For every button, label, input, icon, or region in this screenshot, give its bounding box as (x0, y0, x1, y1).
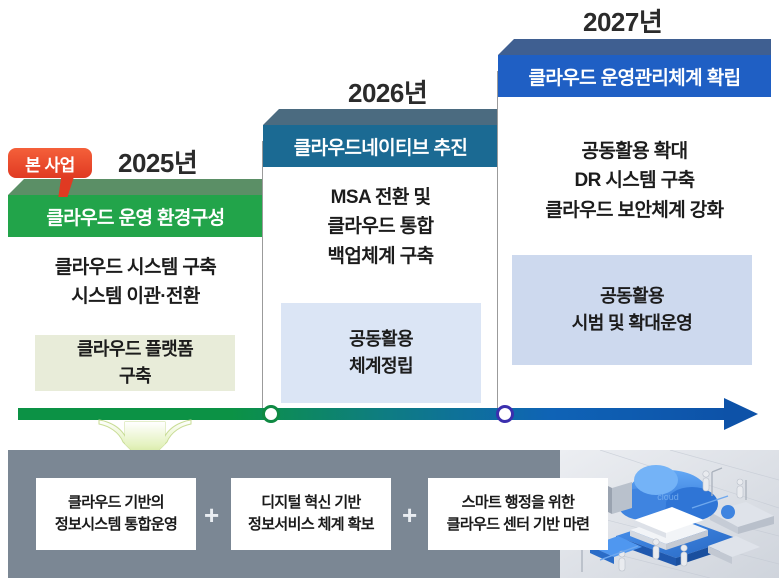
column-subbox-line: 공동활용 (572, 283, 693, 310)
column-header-2027: 클라우드 운영관리체계 확립 (498, 55, 771, 97)
column-subbox-2027: 공동활용 시범 및 확대운영 (512, 255, 752, 365)
column-header-2026: 클라우드네이티브 추진 (263, 125, 498, 167)
outcome-line: 스마트 행정을 위한 (447, 492, 590, 514)
column-subbox-2025: 클라우드 플랫폼 구축 (35, 335, 235, 391)
column-subbox-line: 구축 (77, 363, 193, 390)
outcome-box-1: 클라우드 기반의 정보시스템 통합운영 (36, 478, 196, 550)
outcome-line: 정보서비스 체계 확보 (248, 514, 374, 536)
column-divider-right (497, 71, 498, 411)
column-subbox-2026: 공동활용 체계정립 (281, 303, 481, 403)
column-3d-top-2027 (498, 39, 771, 55)
column-header-2025: 클라우드 운영 환경구성 (8, 195, 263, 237)
outcome-line: 클라우드 센터 기반 마련 (447, 514, 590, 536)
outcome-separator-1: + (204, 502, 219, 528)
column-body-line: 클라우드 시스템 구축 (8, 253, 263, 282)
year-column-2026: 클라우드네이티브 추진 MSA 전환 및 클라우드 통합 백업체계 구축 공동활… (263, 125, 498, 408)
current-project-badge: 본 사업 (8, 148, 92, 178)
column-body-line: DR 시스템 구축 (498, 166, 771, 195)
column-3d-top-2026 (263, 109, 498, 125)
column-body-line: 백업체계 구축 (263, 242, 498, 271)
column-subbox-line: 체계정립 (349, 353, 413, 380)
svg-text:cloud: cloud (657, 492, 679, 502)
column-body-2027: 공동활용 확대 DR 시스템 구축 클라우드 보안체계 강화 (498, 137, 771, 225)
column-3d-top-2025 (8, 179, 263, 195)
column-body-line: 시스템 이관·전환 (8, 282, 263, 311)
column-divider-left (262, 141, 263, 411)
outcome-box-2: 디지털 혁신 기반 정보서비스 체계 확보 (231, 478, 391, 550)
year-column-2025: 클라우드 운영 환경구성 클라우드 시스템 구축 시스템 이관·전환 클라우드 … (8, 195, 263, 408)
outcome-line: 클라우드 기반의 (55, 492, 177, 514)
column-body-line: 클라우드 통합 (263, 212, 498, 241)
year-column-2027: 클라우드 운영관리체계 확립 공동활용 확대 DR 시스템 구축 클라우드 보안… (498, 55, 771, 408)
timeline-milestone-2026 (262, 405, 280, 423)
timeline-arrow-icon (724, 398, 758, 430)
column-body-line: 클라우드 보안체계 강화 (498, 196, 771, 225)
outcome-line: 디지털 혁신 기반 (248, 492, 374, 514)
outcome-line: 정보시스템 통합운영 (55, 514, 177, 536)
year-label-2026: 2026년 (348, 73, 427, 110)
roadmap-infographic: 2025년 2026년 2027년 본 사업 클라우드 운영 환경구성 클라우드… (0, 0, 779, 578)
column-body-2026: MSA 전환 및 클라우드 통합 백업체계 구축 (263, 183, 498, 271)
outcomes-panel: cloud (8, 450, 779, 578)
outcome-box-3: 스마트 행정을 위한 클라우드 센터 기반 마련 (428, 478, 608, 550)
year-label-2025: 2025년 (118, 143, 197, 180)
column-body-line: 공동활용 확대 (498, 137, 771, 166)
year-label-2027: 2027년 (583, 2, 662, 39)
column-body-2025: 클라우드 시스템 구축 시스템 이관·전환 (8, 253, 263, 312)
outcome-separator-2: + (402, 502, 417, 528)
column-subbox-line: 클라우드 플랫폼 (77, 336, 193, 363)
column-body-line: MSA 전환 및 (263, 183, 498, 212)
column-subbox-line: 공동활용 (349, 326, 413, 353)
timeline-milestone-2027 (496, 405, 514, 423)
column-subbox-line: 시범 및 확대운영 (572, 310, 693, 337)
